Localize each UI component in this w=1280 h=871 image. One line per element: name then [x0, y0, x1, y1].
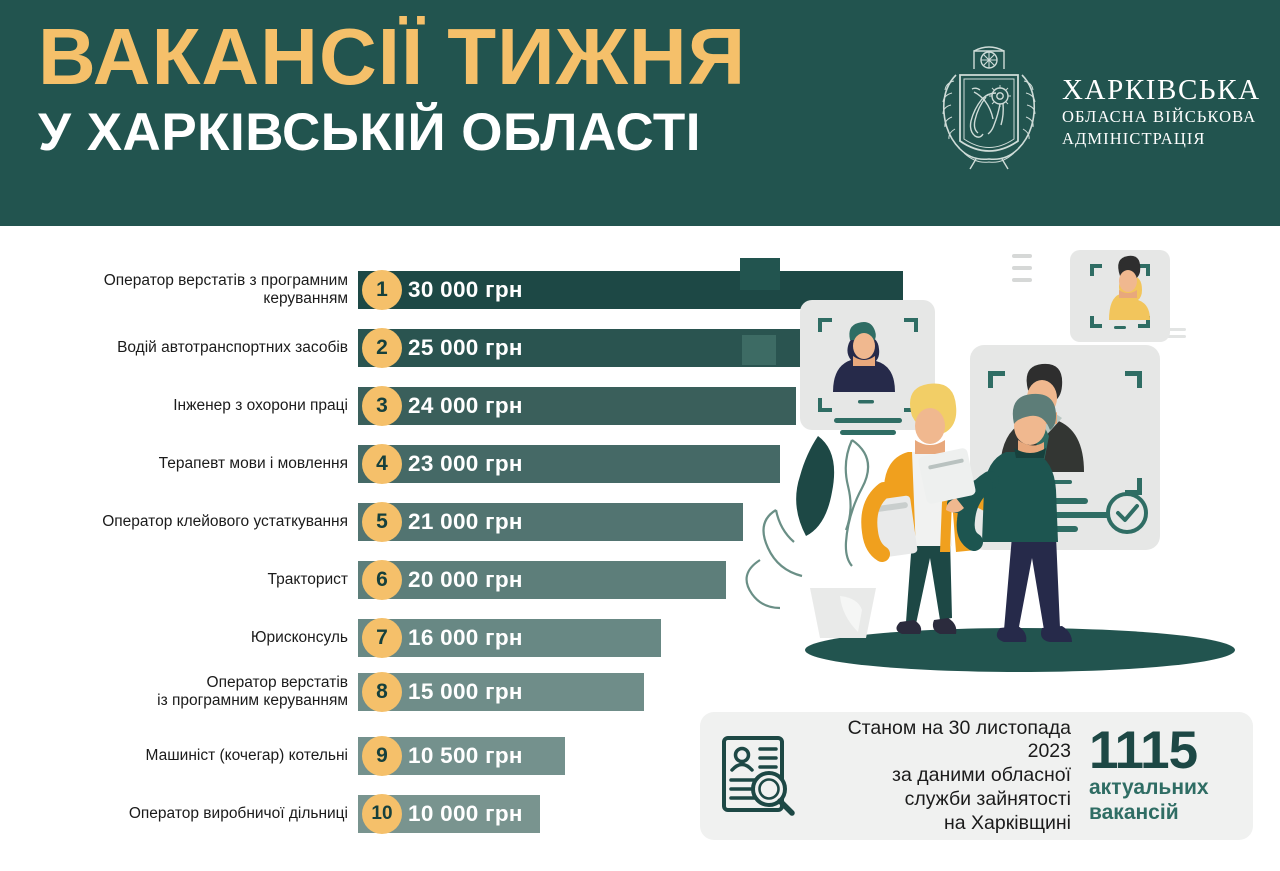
stats-line-3: служби зайнятості	[812, 788, 1071, 812]
page-subtitle: У ХАРКІВСЬКІЙ ОБЛАСТІ	[38, 106, 868, 159]
chart-row-label-line: Оператор верстатів	[0, 674, 348, 692]
chart-row-label-line: керуванням	[0, 290, 348, 308]
chart-row-label: Оператор виробничої дільниці	[0, 805, 358, 823]
chart-row-label-line: Інженер з охорони праці	[0, 397, 348, 415]
stats-line-4: на Харківщині	[812, 812, 1071, 836]
chart-bar-area: 1010 000 грн	[358, 792, 720, 836]
stats-summary-box: Станом на 30 листопада 2023 за даними об…	[700, 712, 1253, 840]
chart-bar-area: 521 000 грн	[358, 500, 720, 544]
header-title-group: ВАКАНСІЇ ТИЖНЯ У ХАРКІВСЬКІЙ ОБЛАСТІ	[38, 18, 868, 159]
chart-rank-badge: 9	[362, 736, 402, 776]
chart-row: Терапевт мови і мовлення423 000 грн	[0, 442, 720, 486]
chart-bar-value: 16 000 грн	[408, 616, 523, 660]
vacancy-count-number: 1115	[1089, 726, 1237, 776]
resume-search-icon	[718, 733, 800, 819]
chart-rank-badge: 2	[362, 328, 402, 368]
chart-bar-value: 23 000 грн	[408, 442, 523, 486]
header-band: ВАКАНСІЇ ТИЖНЯ У ХАРКІВСЬКІЙ ОБЛАСТІ	[0, 0, 1280, 226]
logo-line-2: ОБЛАСНА ВІЙСЬКОВА	[1062, 106, 1261, 128]
chart-row-label: Юрисконсуль	[0, 629, 358, 647]
chart-row-label-line: Тракторист	[0, 571, 348, 589]
recruitment-illustration	[700, 240, 1280, 690]
chart-rank-badge: 5	[362, 502, 402, 542]
chart-rank-badge: 3	[362, 386, 402, 426]
logo-text-block: ХАРКІВСЬКА ОБЛАСНА ВІЙСЬКОВА АДМІНІСТРАЦ…	[1062, 70, 1261, 150]
chart-row-label: Оператор верстатів з програмнимкерування…	[0, 272, 358, 308]
chart-row-label-line: Оператор виробничої дільниці	[0, 805, 348, 823]
vacancy-count-label-2: вакансій	[1089, 801, 1237, 826]
chart-row: Тракторист620 000 грн	[0, 558, 720, 602]
chart-bar-area: 423 000 грн	[358, 442, 720, 486]
vacancy-count-label-1: актуальних	[1089, 776, 1237, 801]
stats-line-2: за даними обласної	[812, 764, 1071, 788]
chart-row-label: Тракторист	[0, 571, 358, 589]
chart-row-label-line: Юрисконсуль	[0, 629, 348, 647]
chart-row: Машиніст (кочегар) котельні910 500 грн	[0, 734, 720, 778]
chart-bar-value: 15 000 грн	[408, 670, 523, 714]
chart-bar-value: 21 000 грн	[408, 500, 523, 544]
chart-row: Інженер з охорони праці324 000 грн	[0, 384, 720, 428]
vacancy-salary-bar-chart: Оператор верстатів з програмнимкерування…	[0, 226, 720, 871]
chart-row-label: Інженер з охорони праці	[0, 397, 358, 415]
chart-bar-area: 324 000 грн	[358, 384, 720, 428]
chart-row-label-line: Оператор клейового устаткування	[0, 513, 348, 531]
chart-row: Водій автотранспортних засобів225 000 гр…	[0, 326, 720, 370]
chart-row-label: Терапевт мови і мовлення	[0, 455, 358, 473]
chart-rank-badge: 8	[362, 672, 402, 712]
chart-bar-area: 910 500 грн	[358, 734, 720, 778]
chart-rank-badge: 7	[362, 618, 402, 658]
kharkiv-oblast-coat-of-arms-icon	[930, 35, 1048, 185]
chart-rank-badge: 6	[362, 560, 402, 600]
chart-row-label: Оператор клейового устаткування	[0, 513, 358, 531]
chart-row: Оператор виробничої дільниці1010 000 грн	[0, 792, 720, 836]
chart-row-label-line: Водій автотранспортних засобів	[0, 339, 348, 357]
chart-bar-value: 30 000 грн	[408, 268, 523, 312]
chart-bar-value: 24 000 грн	[408, 384, 523, 428]
chart-row-label: Оператор верстатівіз програмним керуванн…	[0, 674, 358, 710]
chart-row-label-line: із програмним керуванням	[0, 692, 348, 710]
chart-bar-area: 225 000 грн	[358, 326, 720, 370]
chart-row: Юрисконсуль716 000 грн	[0, 616, 720, 660]
chart-row: Оператор клейового устаткування521 000 г…	[0, 500, 720, 544]
chart-row-label-line: Терапевт мови і мовлення	[0, 455, 348, 473]
logo-block: ХАРКІВСЬКА ОБЛАСНА ВІЙСЬКОВА АДМІНІСТРАЦ…	[930, 30, 1260, 190]
chart-bar-area: 130 000 грн	[358, 268, 720, 312]
chart-rank-badge: 4	[362, 444, 402, 484]
chart-row: Оператор верстатівіз програмним керуванн…	[0, 670, 720, 714]
chart-bar-value: 25 000 грн	[408, 326, 523, 370]
logo-line-1: ХАРКІВСЬКА	[1062, 74, 1261, 106]
chart-row-label-line: Оператор верстатів з програмним	[0, 272, 348, 290]
chart-row-label: Водій автотранспортних засобів	[0, 339, 358, 357]
chart-bar-value: 20 000 грн	[408, 558, 523, 602]
chart-bar-area: 815 000 грн	[358, 670, 720, 714]
chart-row-label-line: Машиніст (кочегар) котельні	[0, 747, 348, 765]
chart-bar-value: 10 000 грн	[408, 792, 523, 836]
chart-rank-badge: 1	[362, 270, 402, 310]
vacancy-count-block: 1115 актуальних вакансій	[1089, 726, 1237, 826]
chart-bar-area: 716 000 грн	[358, 616, 720, 660]
page-title: ВАКАНСІЇ ТИЖНЯ	[38, 18, 868, 96]
stats-text-block: Станом на 30 листопада 2023 за даними об…	[812, 717, 1077, 836]
chart-row: Оператор верстатів з програмнимкерування…	[0, 268, 720, 312]
chart-row-label: Машиніст (кочегар) котельні	[0, 747, 358, 765]
chart-rank-badge: 10	[362, 794, 402, 834]
stats-line-1: Станом на 30 листопада 2023	[812, 717, 1071, 765]
chart-bar-value: 10 500 грн	[408, 734, 523, 778]
logo-line-3: АДМІНІСТРАЦІЯ	[1062, 128, 1261, 150]
chart-bar-area: 620 000 грн	[358, 558, 720, 602]
